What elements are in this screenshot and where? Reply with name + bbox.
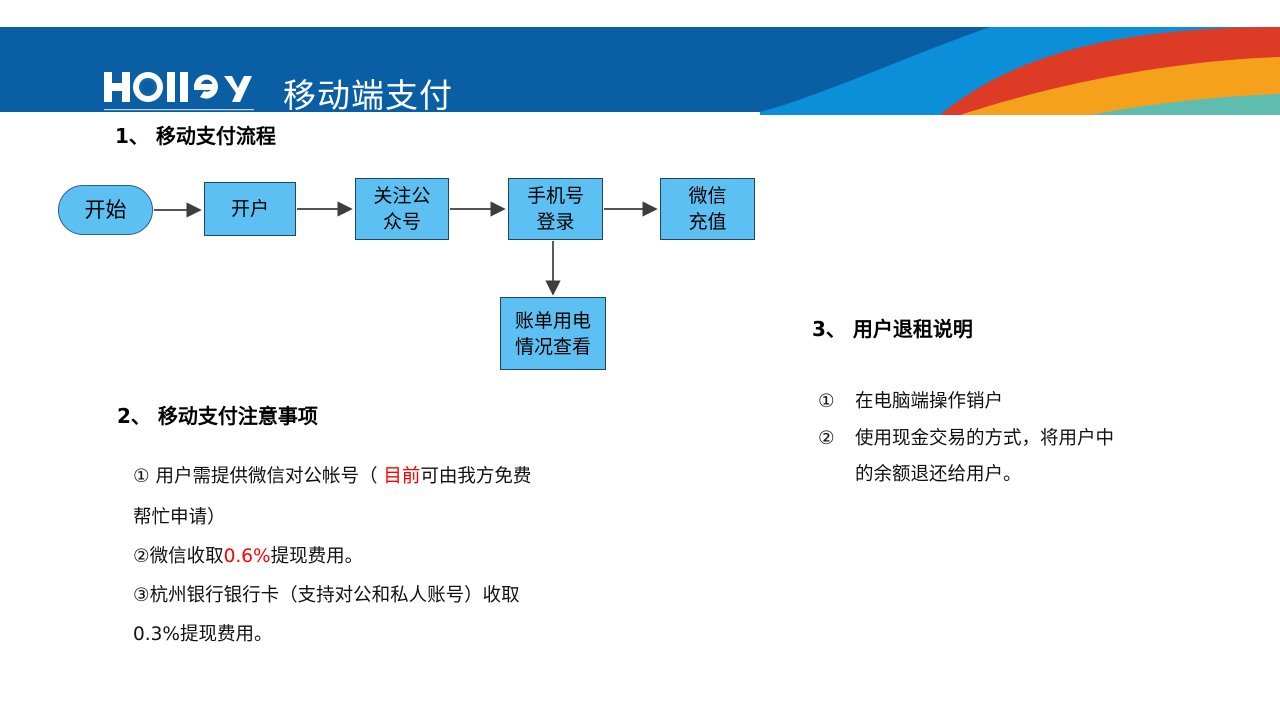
payment-flow-diagram: 开始 开户 关注公 众号 手机号 登录 微信 充值 账单用电 情况查看 <box>0 0 800 400</box>
flow-node-bill-usage-view[interactable]: 账单用电 情况查看 <box>500 297 606 370</box>
section-3-item-2-line-1: 使用现金交易的方式，将用户中 <box>855 421 1114 457</box>
flow-node-login-label: 手机号 登录 <box>527 183 584 235</box>
flow-node-follow-label: 关注公 众号 <box>373 183 430 235</box>
section-3-item-2-line-2: 的余额退还给用户。 <box>855 457 1022 493</box>
item1-text-a: ① 用户需提供微信对公帐号（ <box>133 466 383 487</box>
item2-text-b: 提现费用。 <box>271 546 364 567</box>
item2-text-a: ②微信收取 <box>133 546 224 567</box>
item2-rate-highlight: 0.6% <box>224 546 271 567</box>
flow-node-bill-label: 账单用电 情况查看 <box>515 308 591 360</box>
section-3-heading: 3、 用户退租说明 <box>812 313 973 342</box>
flow-node-phone-login[interactable]: 手机号 登录 <box>508 178 603 240</box>
item1-text-highlight: 目前 <box>383 466 420 487</box>
section-2-item-1-line-1: ① 用户需提供微信对公帐号（ 目前可由我方免费 <box>133 456 531 497</box>
section-2-item-3-line-1: ③杭州银行银行卡（支持对公和私人账号）收取 <box>133 575 520 616</box>
section-3-item-1-marker: ① <box>818 384 835 420</box>
flow-node-wechat-recharge[interactable]: 微信 充值 <box>660 178 755 240</box>
item1-text-b: 可由我方免费 <box>420 466 531 487</box>
section-3-item-1-text: 在电脑端操作销户 <box>855 384 1003 420</box>
section-2-item-2: ②微信收取0.6%提现费用。 <box>133 536 363 577</box>
header-swoosh-graphic <box>760 0 1280 115</box>
section-2-item-3-line-2: 0.3%提现费用。 <box>133 614 273 655</box>
slide-canvas: TECH 华立科技 移动端支付 1、 移动支付流程 开始 开户 <box>0 0 1280 720</box>
flow-node-start[interactable]: 开始 <box>58 185 153 235</box>
section-2-item-1-line-2: 帮忙申请） <box>133 497 226 538</box>
section-2-heading: 2、 移动支付注意事项 <box>117 400 318 429</box>
flow-node-open-account[interactable]: 开户 <box>204 182 296 236</box>
flow-node-recharge-label: 微信 充值 <box>688 183 726 235</box>
flow-node-follow-official-account[interactable]: 关注公 众号 <box>355 178 449 240</box>
section-3-item-2-marker: ② <box>818 421 835 457</box>
